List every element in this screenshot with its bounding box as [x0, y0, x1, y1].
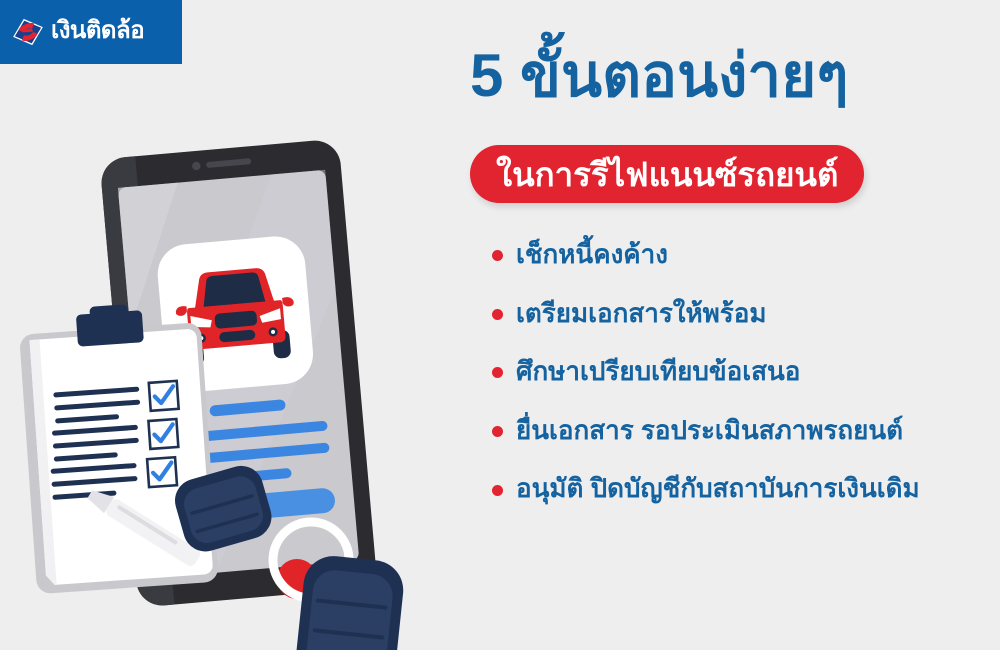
bullet-dot-icon [492, 309, 503, 320]
step-label: เตรียมเอกสารให้พร้อม [516, 299, 766, 328]
page-title: 5 ขั้นตอนง่ายๆ [470, 44, 940, 107]
infographic-canvas: เงินติดล้อ 5 ขั้นตอนง่ายๆ ในการรีไฟแนนซ์… [0, 0, 1000, 650]
bullet-dot-icon [492, 250, 503, 261]
refinance-illustration [0, 120, 470, 650]
bullet-dot-icon [492, 426, 503, 437]
list-item: อนุมัติ ปิดบัญชีกับสถาบันการเงินเดิม [492, 474, 992, 503]
subtitle-badge: ในการรีไฟแนนซ์รถยนต์ [470, 145, 864, 203]
brand-logo-text: เงินติดล้อ [51, 19, 144, 43]
step-label: อนุมัติ ปิดบัญชีกับสถาบันการเงินเดิม [516, 474, 920, 503]
steps-list: เช็กหนี้คงค้าง เตรียมเอกสารให้พร้อม ศึกษ… [492, 240, 992, 503]
brand-logo-bar[interactable]: เงินติดล้อ [0, 0, 182, 64]
bullet-dot-icon [492, 485, 503, 496]
list-item: ศึกษาเปรียบเทียบข้อเสนอ [492, 357, 992, 386]
step-label: ศึกษาเปรียบเทียบข้อเสนอ [516, 357, 800, 386]
list-item: เตรียมเอกสารให้พร้อม [492, 299, 992, 328]
list-item: ยื่นเอกสาร รอประเมินสภาพรถยนต์ [492, 416, 992, 445]
list-item: เช็กหนี้คงค้าง [492, 240, 992, 269]
bullet-dot-icon [492, 367, 503, 378]
step-label: เช็กหนี้คงค้าง [516, 240, 668, 269]
ngerntidlor-swirl-icon [10, 17, 46, 47]
step-label: ยื่นเอกสาร รอประเมินสภาพรถยนต์ [516, 416, 903, 445]
